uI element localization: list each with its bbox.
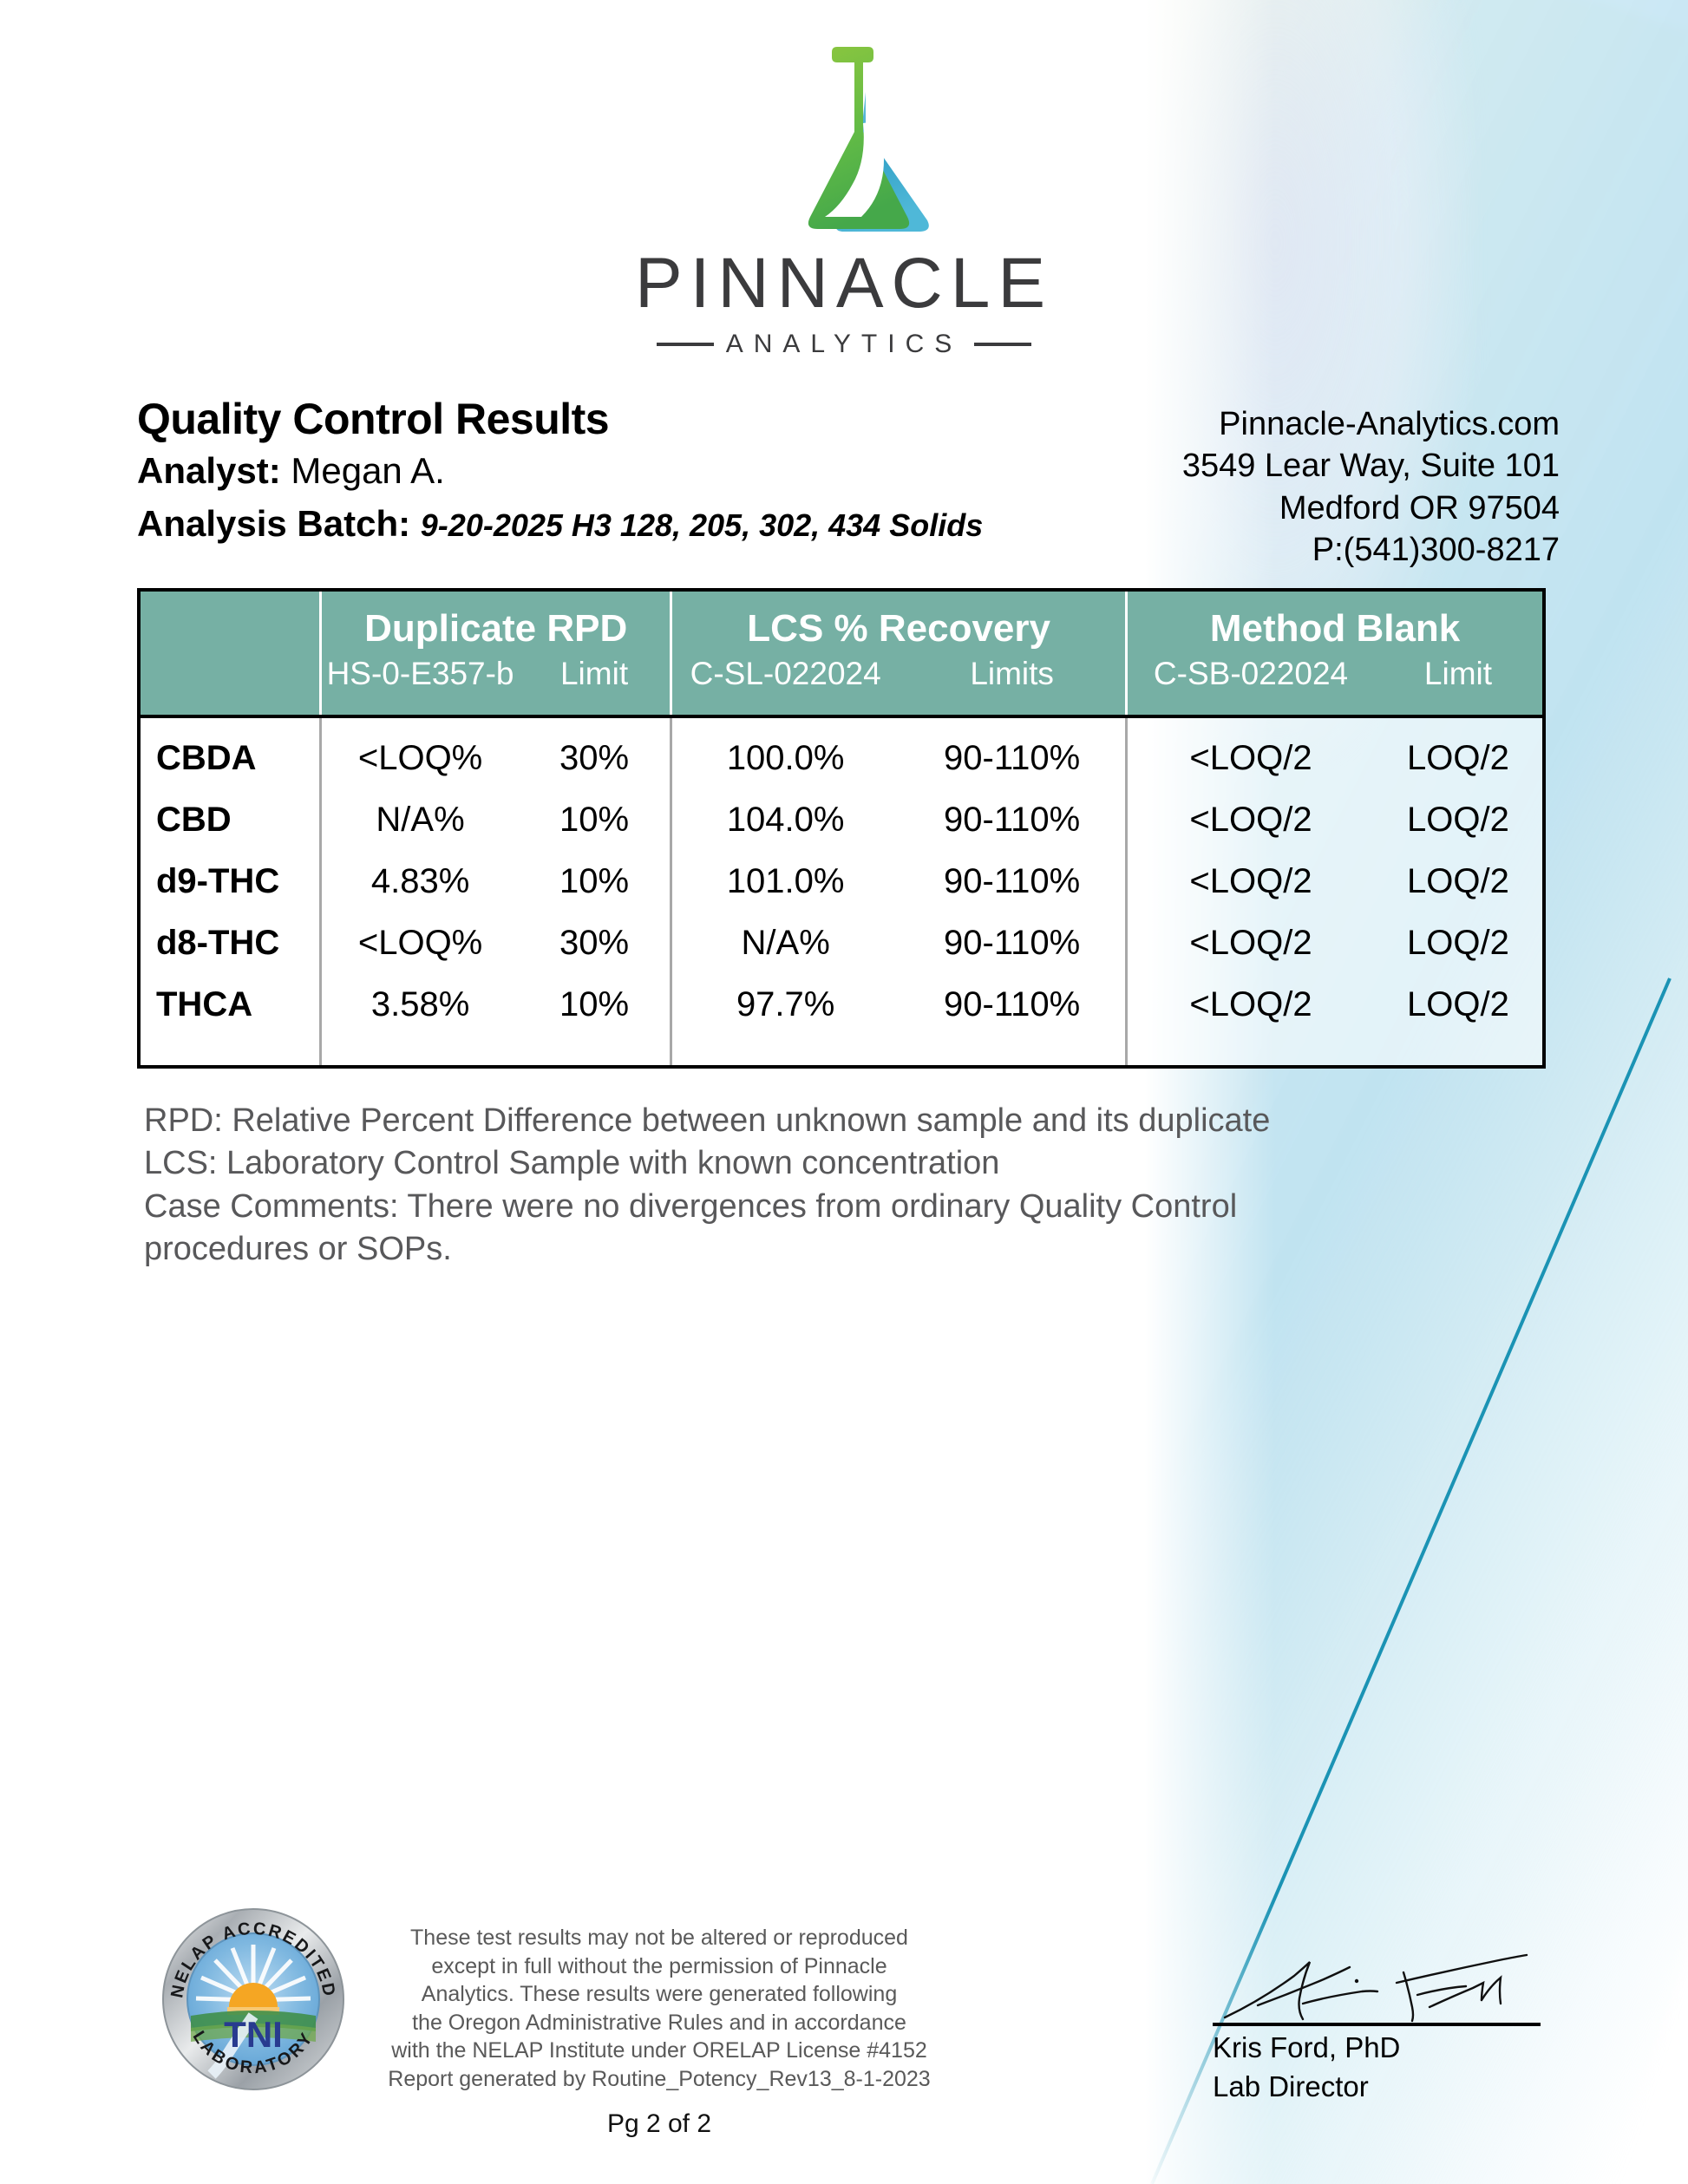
lab-street: 3549 Lear Way, Suite 101 bbox=[1182, 445, 1560, 487]
cell-lcs-limits: 90-110% bbox=[899, 912, 1126, 974]
cell-rpd: 3.58% bbox=[321, 974, 519, 1036]
qc-subheader-row: HS-0-E357-b Limit C-SL-022024 Limits C-S… bbox=[141, 656, 1542, 716]
note-lcs-definition: LCS: Laboratory Control Sample with know… bbox=[144, 1142, 1549, 1185]
lab-city-state-zip: Medford OR 97504 bbox=[1182, 487, 1560, 529]
seal-center-text: TNI bbox=[224, 2014, 283, 2055]
subheader-mb-sample-id: C-SB-022024 bbox=[1127, 656, 1374, 716]
logo-wordmark: PINNACLE bbox=[566, 248, 1122, 319]
cell-mb-limit: LOQ/2 bbox=[1374, 789, 1542, 851]
group-header-method-blank: Method Blank bbox=[1127, 592, 1542, 656]
cell-lcs: 101.0% bbox=[671, 851, 899, 912]
page-title: Quality Control Results bbox=[137, 395, 983, 443]
cell-analyte: d9-THC bbox=[141, 851, 321, 912]
disclaimer-line-1: These test results may not be altered or… bbox=[347, 1924, 972, 1952]
logo-subtitle-row: ANALYTICS bbox=[566, 330, 1122, 359]
cell-mb: <LOQ/2 bbox=[1127, 851, 1374, 912]
table-row: d9-THC 4.83% 10% 101.0% 90-110% <LOQ/2 L… bbox=[141, 851, 1542, 912]
cell-mb-limit: LOQ/2 bbox=[1374, 716, 1542, 789]
analysis-batch-row: Analysis Batch: 9-20-2025 H3 128, 205, 3… bbox=[137, 501, 983, 547]
white-backdrop-fade bbox=[1145, 0, 1275, 2184]
cell-rpd-limit: 30% bbox=[519, 912, 671, 974]
handwritten-signature bbox=[1216, 1950, 1554, 2028]
note-rpd-definition: RPD: Relative Percent Difference between… bbox=[144, 1100, 1549, 1142]
cell-mb-limit: LOQ/2 bbox=[1374, 851, 1542, 912]
table-row: CBDA <LOQ% 30% 100.0% 90-110% <LOQ/2 LOQ… bbox=[141, 716, 1542, 789]
subheader-lcs-sample-id: C-SL-022024 bbox=[671, 656, 899, 716]
qc-table-head: Duplicate RPD LCS % Recovery Method Blan… bbox=[141, 592, 1542, 716]
qc-group-header-row: Duplicate RPD LCS % Recovery Method Blan… bbox=[141, 592, 1542, 656]
analyst-row: Analyst: Megan A. bbox=[137, 448, 983, 494]
cell-lcs: 104.0% bbox=[671, 789, 899, 851]
nelap-accredited-seal-icon: TNI NELAP ACCREDITED LABORATORY bbox=[147, 1884, 356, 2101]
spacer-cell bbox=[1127, 1036, 1374, 1065]
logo-rule-left bbox=[657, 343, 714, 346]
cell-analyte: d8-THC bbox=[141, 912, 321, 974]
subheader-rpd-sample-id: HS-0-E357-b bbox=[321, 656, 519, 716]
note-case-comments-line1: Case Comments: There were no divergences… bbox=[144, 1186, 1549, 1228]
cell-lcs-limits: 90-110% bbox=[899, 974, 1126, 1036]
flask-icon bbox=[714, 29, 974, 246]
qc-report-page: PINNACLE ANALYTICS Quality Control Resul… bbox=[0, 0, 1688, 2184]
cell-rpd-limit: 10% bbox=[519, 789, 671, 851]
cell-mb-limit: LOQ/2 bbox=[1374, 974, 1542, 1036]
cell-rpd: 4.83% bbox=[321, 851, 519, 912]
cell-analyte: CBDA bbox=[141, 716, 321, 789]
cell-mb-limit: LOQ/2 bbox=[1374, 912, 1542, 974]
qc-results-table: Duplicate RPD LCS % Recovery Method Blan… bbox=[141, 592, 1542, 1065]
group-header-duplicate-rpd: Duplicate RPD bbox=[321, 592, 671, 656]
cell-analyte: CBD bbox=[141, 789, 321, 851]
analysis-batch-label: Analysis Batch: bbox=[137, 503, 410, 544]
cell-lcs-limits: 90-110% bbox=[899, 789, 1126, 851]
subheader-mb-limit: Limit bbox=[1374, 656, 1542, 716]
disclaimer-line-6: Report generated by Routine_Potency_Rev1… bbox=[347, 2065, 972, 2094]
page-number: Pg 2 of 2 bbox=[347, 2109, 972, 2139]
analyst-value: Megan A. bbox=[291, 450, 444, 491]
lab-contact-block: Pinnacle-Analytics.com 3549 Lear Way, Su… bbox=[1182, 395, 1560, 571]
disclaimer-line-2: except in full without the permission of… bbox=[347, 1952, 972, 1981]
company-logo: PINNACLE ANALYTICS bbox=[566, 29, 1122, 359]
qc-results-table-container: Duplicate RPD LCS % Recovery Method Blan… bbox=[137, 588, 1546, 1069]
cell-analyte: THCA bbox=[141, 974, 321, 1036]
spacer-cell bbox=[321, 1036, 519, 1065]
table-row: d8-THC <LOQ% 30% N/A% 90-110% <LOQ/2 LOQ… bbox=[141, 912, 1542, 974]
disclaimer-line-5: with the NELAP Institute under ORELAP Li… bbox=[347, 2037, 972, 2065]
analysis-batch-value: 9-20-2025 H3 128, 205, 302, 434 Solids bbox=[421, 507, 983, 543]
spacer-cell bbox=[519, 1036, 671, 1065]
analyst-label: Analyst: bbox=[137, 450, 281, 491]
analyte-subheader bbox=[141, 656, 321, 716]
cell-rpd: <LOQ% bbox=[321, 912, 519, 974]
table-row: THCA 3.58% 10% 97.7% 90-110% <LOQ/2 LOQ/… bbox=[141, 974, 1542, 1036]
header-left-block: Quality Control Results Analyst: Megan A… bbox=[137, 395, 983, 547]
cell-rpd-limit: 10% bbox=[519, 974, 671, 1036]
cell-mb: <LOQ/2 bbox=[1127, 974, 1374, 1036]
spacer-cell bbox=[1374, 1036, 1542, 1065]
disclaimer-line-4: the Oregon Administrative Rules and in a… bbox=[347, 2009, 972, 2037]
table-bottom-spacer bbox=[141, 1036, 1542, 1065]
cell-lcs-limits: 90-110% bbox=[899, 851, 1126, 912]
note-case-comments-line2: procedures or SOPs. bbox=[144, 1228, 1549, 1271]
spacer-cell bbox=[671, 1036, 899, 1065]
lab-website[interactable]: Pinnacle-Analytics.com bbox=[1182, 403, 1560, 445]
spacer-cell bbox=[141, 1036, 321, 1065]
qc-table-body: CBDA <LOQ% 30% 100.0% 90-110% <LOQ/2 LOQ… bbox=[141, 716, 1542, 1065]
cell-lcs-limits: 90-110% bbox=[899, 716, 1126, 789]
table-row: CBD N/A% 10% 104.0% 90-110% <LOQ/2 LOQ/2 bbox=[141, 789, 1542, 851]
subheader-rpd-limit: Limit bbox=[519, 656, 671, 716]
document-header: Quality Control Results Analyst: Megan A… bbox=[137, 395, 1560, 571]
cell-lcs: 97.7% bbox=[671, 974, 899, 1036]
subheader-lcs-limits: Limits bbox=[899, 656, 1126, 716]
spacer-cell bbox=[899, 1036, 1126, 1065]
cell-rpd-limit: 30% bbox=[519, 716, 671, 789]
cell-mb: <LOQ/2 bbox=[1127, 912, 1374, 974]
group-header-lcs-recovery: LCS % Recovery bbox=[671, 592, 1127, 656]
qc-notes-block: RPD: Relative Percent Difference between… bbox=[144, 1100, 1549, 1272]
cell-lcs: N/A% bbox=[671, 912, 899, 974]
signer-title: Lab Director bbox=[1213, 2070, 1560, 2104]
logo-subtitle: ANALYTICS bbox=[726, 330, 963, 359]
signature-line bbox=[1213, 2023, 1541, 2026]
logo-rule-right bbox=[974, 343, 1031, 346]
cell-lcs: 100.0% bbox=[671, 716, 899, 789]
footer-disclaimer: These test results may not be altered or… bbox=[347, 1924, 972, 2093]
analyte-group-header bbox=[141, 592, 321, 656]
cell-rpd-limit: 10% bbox=[519, 851, 671, 912]
disclaimer-line-3: Analytics. These results were generated … bbox=[347, 1980, 972, 2009]
signer-name: Kris Ford, PhD bbox=[1213, 2031, 1560, 2065]
signature-block: Kris Ford, PhD Lab Director bbox=[1213, 1950, 1560, 2104]
cell-mb: <LOQ/2 bbox=[1127, 789, 1374, 851]
cell-rpd: N/A% bbox=[321, 789, 519, 851]
lab-phone: P:(541)300-8217 bbox=[1182, 529, 1560, 571]
cell-mb: <LOQ/2 bbox=[1127, 716, 1374, 789]
cell-rpd: <LOQ% bbox=[321, 716, 519, 789]
